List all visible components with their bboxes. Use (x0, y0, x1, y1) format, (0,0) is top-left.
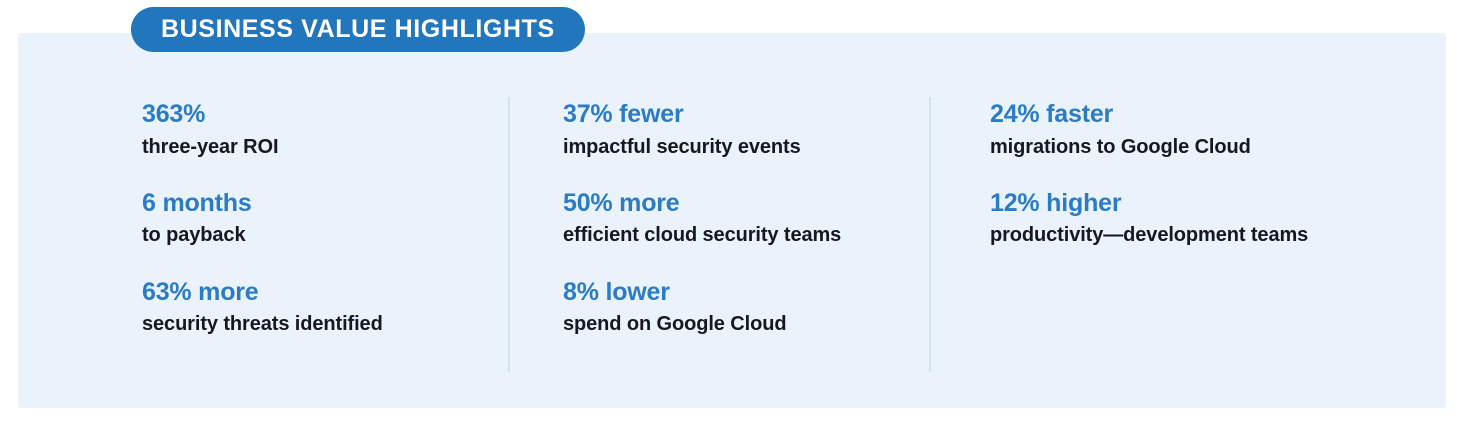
stat-value: 24% faster (990, 100, 1320, 130)
stat-block: 12% higher productivity—development team… (990, 189, 1320, 250)
stat-label: spend on Google Cloud (563, 310, 913, 338)
highlights-column-3: 24% faster migrations to Google Cloud 12… (990, 100, 1320, 250)
stat-block: 6 months to payback (142, 189, 492, 250)
stat-label: efficient cloud security teams (563, 221, 913, 249)
stat-block: 63% more security threats identified (142, 278, 492, 339)
stat-label: impactful security events (563, 133, 913, 161)
stat-value: 363% (142, 100, 492, 130)
stat-value: 63% more (142, 278, 492, 308)
stat-block: 37% fewer impactful security events (563, 100, 913, 161)
stat-label: migrations to Google Cloud (990, 133, 1320, 161)
stat-block: 8% lower spend on Google Cloud (563, 278, 913, 339)
business-value-highlights-infographic: BUSINESS VALUE HIGHLIGHTS 363% three-yea… (0, 0, 1464, 424)
stat-value: 12% higher (990, 189, 1320, 219)
stat-value: 50% more (563, 189, 913, 219)
highlights-column-1: 363% three-year ROI 6 months to payback … (142, 100, 492, 339)
stat-value: 37% fewer (563, 100, 913, 130)
stat-value: 8% lower (563, 278, 913, 308)
stat-value: 6 months (142, 189, 492, 219)
highlights-column-2: 37% fewer impactful security events 50% … (563, 100, 913, 339)
stat-label: to payback (142, 221, 492, 249)
stat-block: 363% three-year ROI (142, 100, 492, 161)
stat-label: security threats identified (142, 310, 492, 338)
stat-block: 50% more efficient cloud security teams (563, 189, 913, 250)
stat-block: 24% faster migrations to Google Cloud (990, 100, 1320, 161)
stat-label: three-year ROI (142, 133, 492, 161)
highlights-columns: 363% three-year ROI 6 months to payback … (0, 0, 1464, 424)
stat-label: productivity—development teams (990, 221, 1320, 249)
